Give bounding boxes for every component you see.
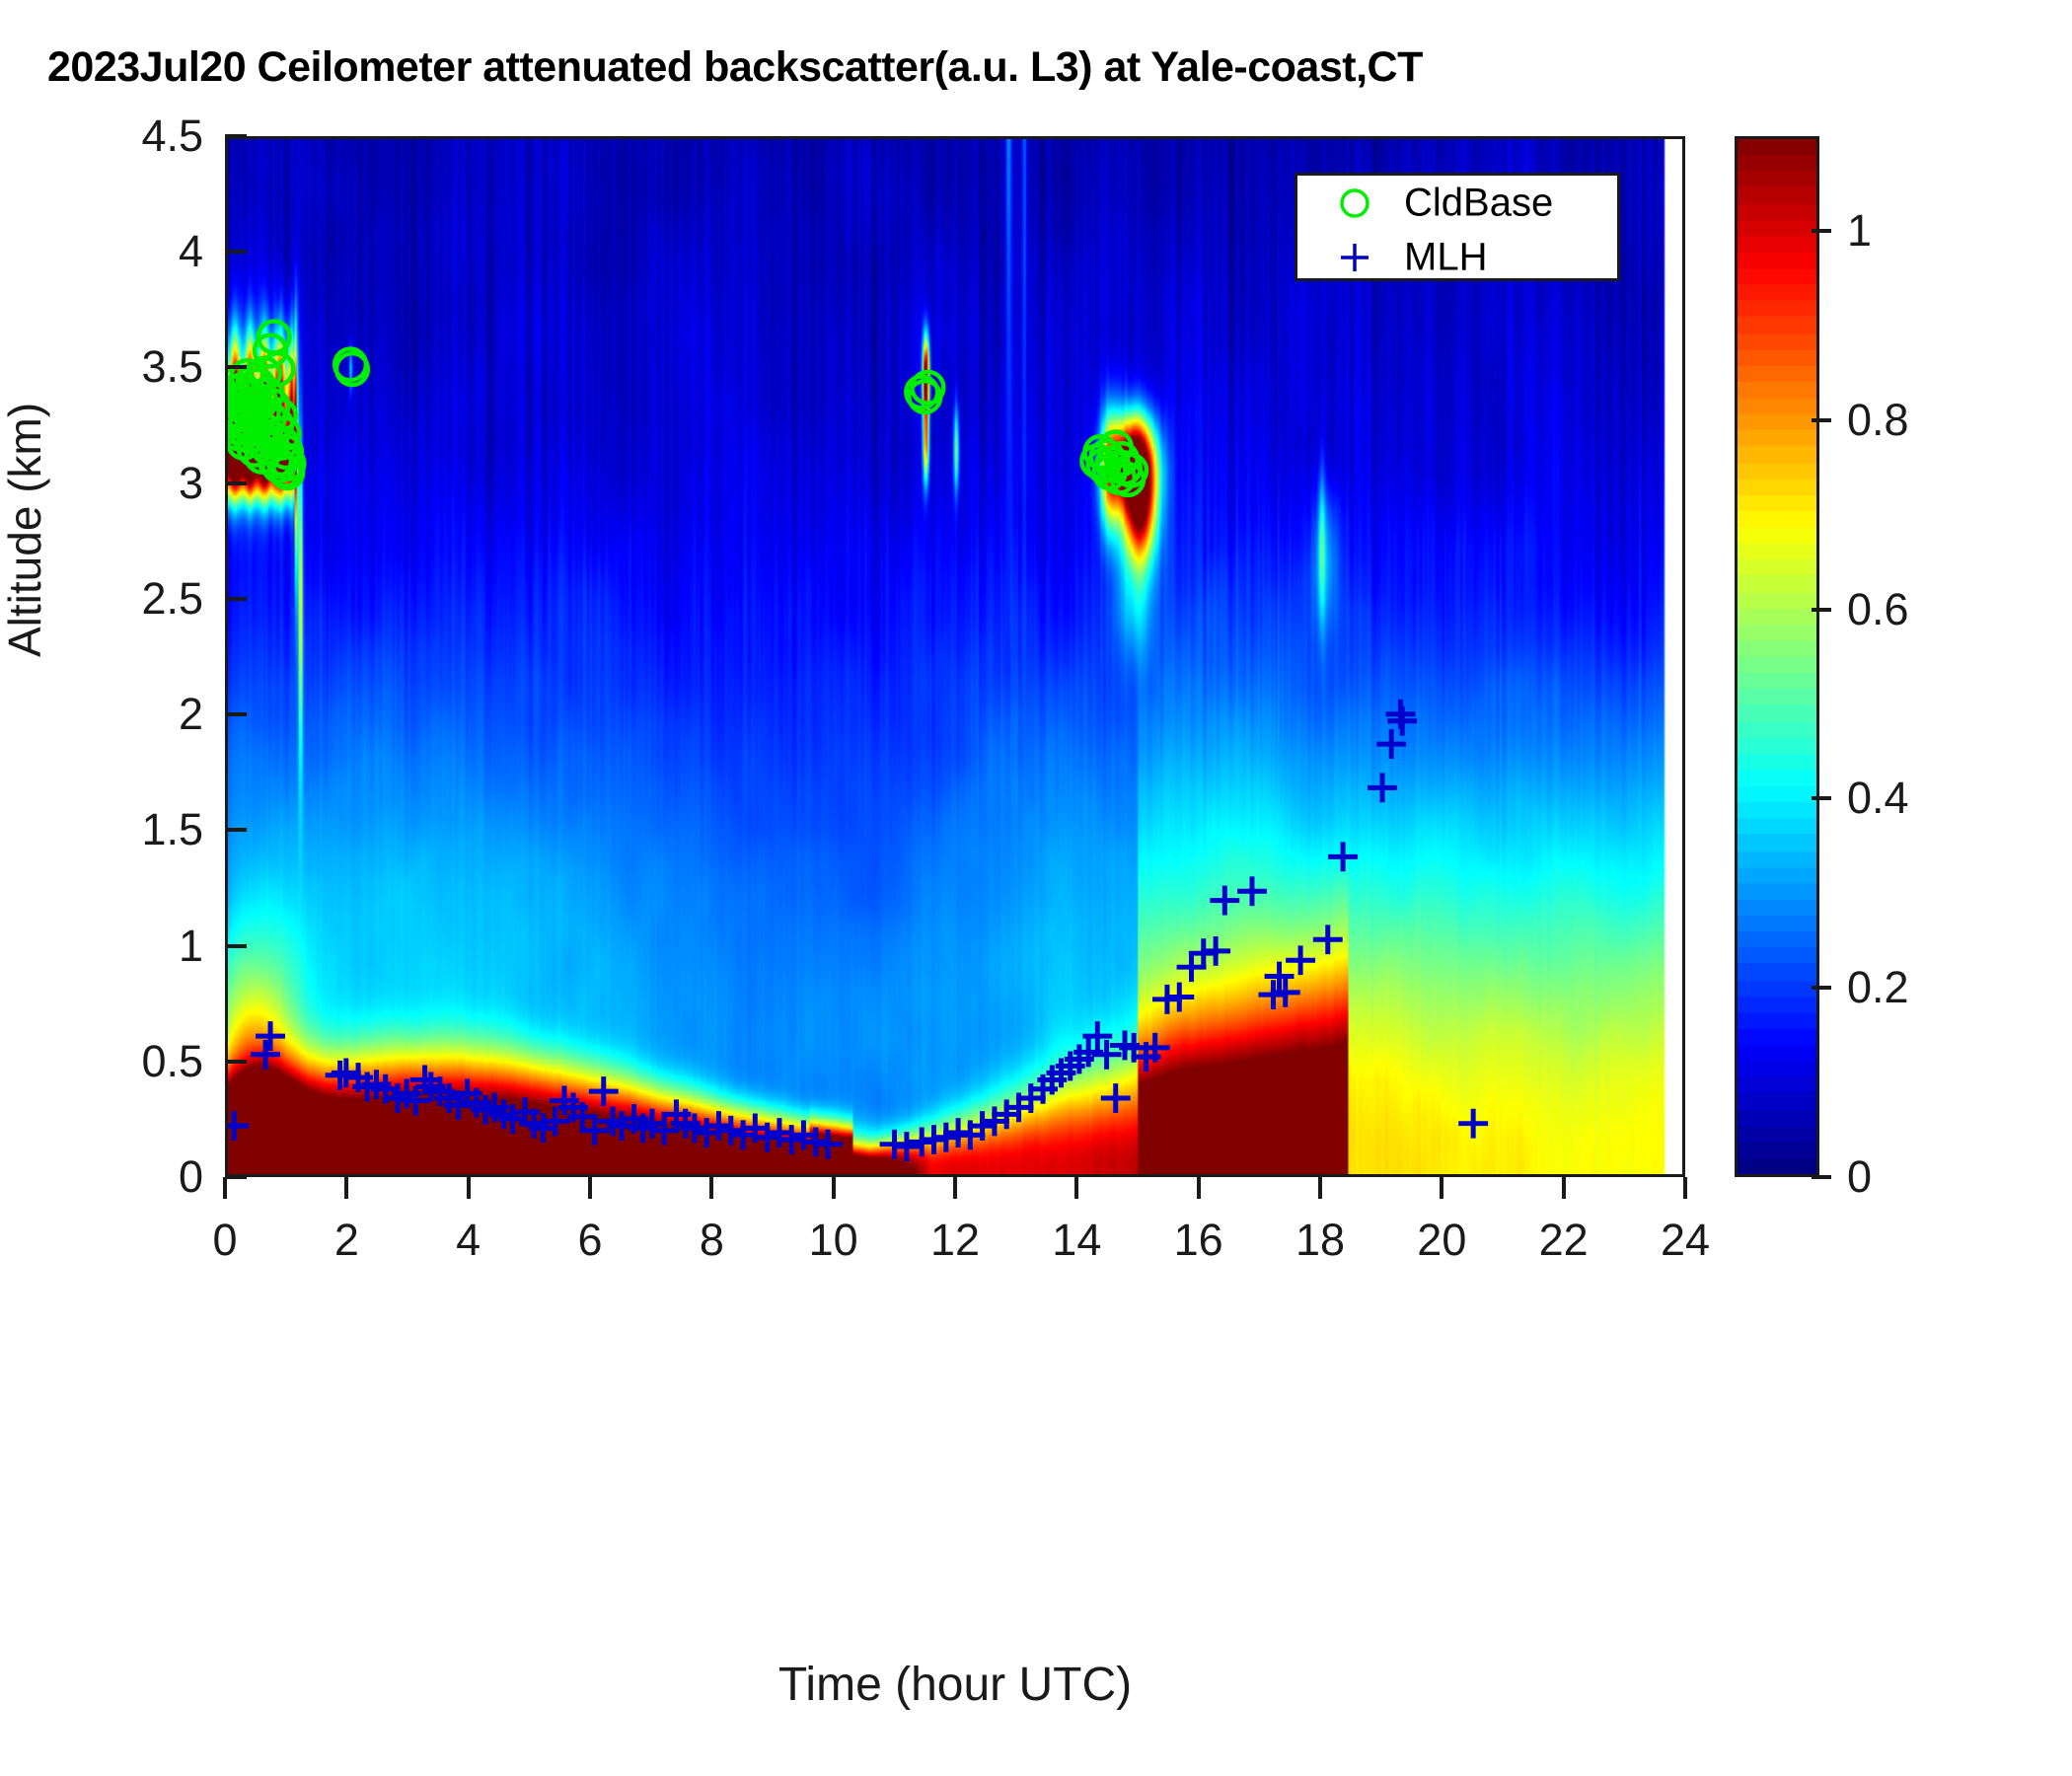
y-axis-tick bbox=[225, 597, 247, 601]
colorbar-tick bbox=[1812, 1175, 1831, 1179]
y-axis-tick bbox=[225, 1060, 247, 1064]
colorbar-tick-label: 0 bbox=[1847, 1151, 1872, 1203]
x-axis-tick bbox=[709, 1177, 713, 1199]
y-axis-tick bbox=[225, 134, 247, 138]
y-axis-tick-label: 2.5 bbox=[59, 573, 203, 625]
colorbar-tick-label: 0.4 bbox=[1847, 773, 1909, 824]
x-axis-tick-label: 6 bbox=[577, 1215, 602, 1266]
colorbar-tick bbox=[1812, 229, 1831, 233]
x-axis-tick bbox=[953, 1177, 957, 1199]
x-axis-tick-label: 20 bbox=[1417, 1215, 1466, 1266]
x-axis-tick bbox=[223, 1177, 227, 1199]
y-axis-title: Altitude (km) bbox=[0, 403, 51, 657]
colorbar-tick-label: 0.6 bbox=[1847, 584, 1909, 635]
y-axis-tick bbox=[225, 250, 247, 254]
colorbar-tick-label: 0.8 bbox=[1847, 395, 1909, 446]
x-axis-tick-label: 24 bbox=[1661, 1215, 1710, 1266]
y-axis-tick bbox=[225, 1175, 247, 1179]
colorbar-tick bbox=[1812, 418, 1831, 422]
x-axis-tick-label: 4 bbox=[456, 1215, 481, 1266]
x-axis-tick bbox=[1074, 1177, 1078, 1199]
x-axis-tick-label: 8 bbox=[700, 1215, 724, 1266]
y-axis-tick-label: 2 bbox=[59, 689, 203, 740]
plus-marker-icon bbox=[1327, 238, 1382, 277]
x-axis-tick bbox=[832, 1177, 836, 1199]
figure: 2023Jul20 Ceilometer attenuated backscat… bbox=[0, 0, 2072, 1776]
colorbar-tick bbox=[1812, 796, 1831, 800]
y-axis-tick bbox=[225, 365, 247, 369]
y-axis-tick-label: 3 bbox=[59, 458, 203, 509]
x-axis-tick bbox=[588, 1177, 592, 1199]
colorbar-tick bbox=[1812, 608, 1831, 612]
x-axis-tick-label: 18 bbox=[1295, 1215, 1345, 1266]
legend-label-mlh: MLH bbox=[1404, 235, 1487, 279]
colorbar-gradient bbox=[1738, 139, 1816, 1174]
x-axis-tick bbox=[1683, 1177, 1687, 1199]
colorbar-tick-label: 0.2 bbox=[1847, 962, 1909, 1013]
circle-marker-icon bbox=[1327, 184, 1382, 223]
y-axis-tick bbox=[225, 712, 247, 716]
x-axis-tick-label: 12 bbox=[930, 1215, 980, 1266]
x-axis-title: Time (hour UTC) bbox=[225, 1658, 1685, 1712]
x-axis-tick-label: 16 bbox=[1174, 1215, 1223, 1266]
x-axis-tick bbox=[1197, 1177, 1201, 1199]
x-axis-tick bbox=[1318, 1177, 1322, 1199]
heatmap-plot-area bbox=[225, 136, 1685, 1177]
x-axis-tick-label: 0 bbox=[212, 1215, 237, 1266]
chart-legend: CldBase MLH bbox=[1295, 173, 1620, 281]
y-axis-tick-label: 4 bbox=[59, 226, 203, 277]
x-axis-tick-label: 14 bbox=[1052, 1215, 1101, 1266]
chart-title: 2023Jul20 Ceilometer attenuated backscat… bbox=[47, 43, 1725, 92]
y-axis-tick-label: 0 bbox=[59, 1151, 203, 1203]
y-axis-tick-label: 3.5 bbox=[59, 341, 203, 393]
x-axis-tick bbox=[467, 1177, 471, 1199]
legend-entry-mlh: MLH bbox=[1297, 230, 1617, 284]
x-axis-tick bbox=[344, 1177, 348, 1199]
colorbar-tick bbox=[1812, 986, 1831, 990]
x-axis-tick-label: 2 bbox=[334, 1215, 359, 1266]
y-axis-tick bbox=[225, 828, 247, 832]
y-axis-tick-label: 4.5 bbox=[59, 111, 203, 162]
backscatter-heatmap bbox=[228, 139, 1682, 1174]
x-axis-tick bbox=[1562, 1177, 1566, 1199]
x-axis-tick bbox=[1440, 1177, 1443, 1199]
colorbar-tick-label: 1 bbox=[1847, 205, 1872, 257]
y-axis-tick bbox=[225, 481, 247, 485]
x-axis-tick-label: 10 bbox=[809, 1215, 858, 1266]
y-axis-tick bbox=[225, 944, 247, 948]
y-axis-tick-label: 0.5 bbox=[59, 1036, 203, 1087]
legend-entry-cldbase: CldBase bbox=[1297, 176, 1617, 230]
legend-label-cldbase: CldBase bbox=[1404, 181, 1553, 225]
x-axis-tick-label: 22 bbox=[1539, 1215, 1589, 1266]
heatmap-canvas bbox=[228, 139, 1682, 1174]
y-axis-tick-label: 1 bbox=[59, 921, 203, 972]
colorbar bbox=[1735, 136, 1819, 1177]
y-axis-tick-label: 1.5 bbox=[59, 804, 203, 855]
